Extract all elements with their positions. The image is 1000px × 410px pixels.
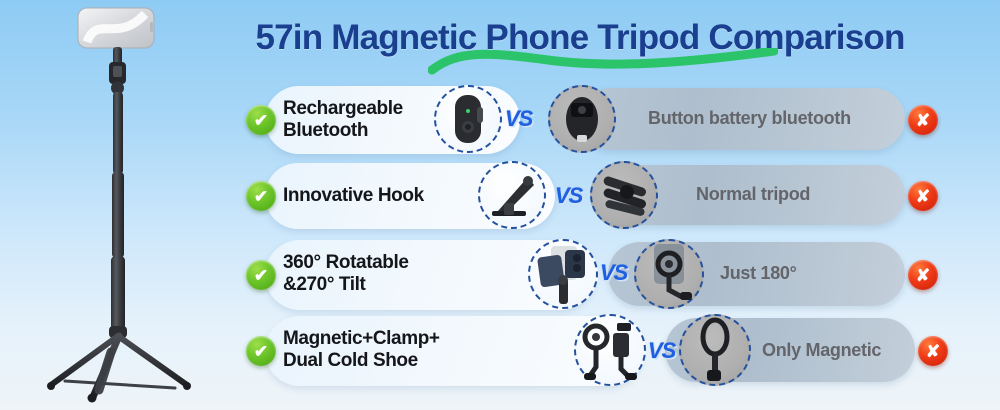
vs-label: VS bbox=[648, 338, 675, 364]
pro-thumbnail bbox=[434, 85, 502, 153]
con-thumbnail bbox=[679, 314, 751, 386]
pro-feature-label: Rechargeable Bluetooth bbox=[283, 98, 403, 142]
vs-label: VS bbox=[555, 183, 582, 209]
con-feature-label: Button battery bluetooth bbox=[648, 108, 851, 129]
x-icon: ✘ bbox=[918, 336, 948, 366]
vs-label: VS bbox=[600, 260, 627, 286]
title-area: 57in Magnetic Phone Tripod Comparison bbox=[230, 12, 930, 74]
pro-feature-label: Innovative Hook bbox=[283, 185, 424, 207]
pro-thumbnail bbox=[574, 314, 646, 386]
check-icon: ✔ bbox=[246, 105, 276, 135]
x-icon: ✘ bbox=[908, 181, 938, 211]
x-icon: ✘ bbox=[908, 105, 938, 135]
title-underline-swoosh bbox=[428, 48, 778, 76]
x-icon: ✘ bbox=[908, 260, 938, 290]
con-feature-label: Only Magnetic bbox=[762, 340, 881, 361]
con-thumbnail bbox=[548, 85, 616, 153]
con-feature-label: Normal tripod bbox=[696, 184, 810, 205]
vs-label: VS bbox=[505, 106, 532, 132]
comparison-row: ✔ Rechargeable Bluetooth VS Button batte… bbox=[0, 86, 1000, 154]
comparison-row: ✔ 360° Rotatable &270° Tilt VS Just 180°… bbox=[0, 240, 1000, 310]
con-thumbnail bbox=[590, 161, 658, 229]
comparison-row: ✔ Innovative Hook VS Normal tripod ✘ bbox=[0, 163, 1000, 229]
pro-feature-label: 360° Rotatable &270° Tilt bbox=[283, 252, 409, 296]
pro-feature-label: Magnetic+Clamp+ Dual Cold Shoe bbox=[283, 328, 440, 372]
check-icon: ✔ bbox=[246, 181, 276, 211]
pro-thumbnail bbox=[528, 239, 598, 309]
check-icon: ✔ bbox=[246, 260, 276, 290]
con-feature-label: Just 180° bbox=[720, 263, 797, 284]
comparison-row: ✔ Magnetic+Clamp+ Dual Cold Shoe VS Only… bbox=[0, 316, 1000, 386]
pro-thumbnail bbox=[478, 161, 546, 229]
check-icon: ✔ bbox=[246, 336, 276, 366]
con-thumbnail bbox=[634, 239, 704, 309]
